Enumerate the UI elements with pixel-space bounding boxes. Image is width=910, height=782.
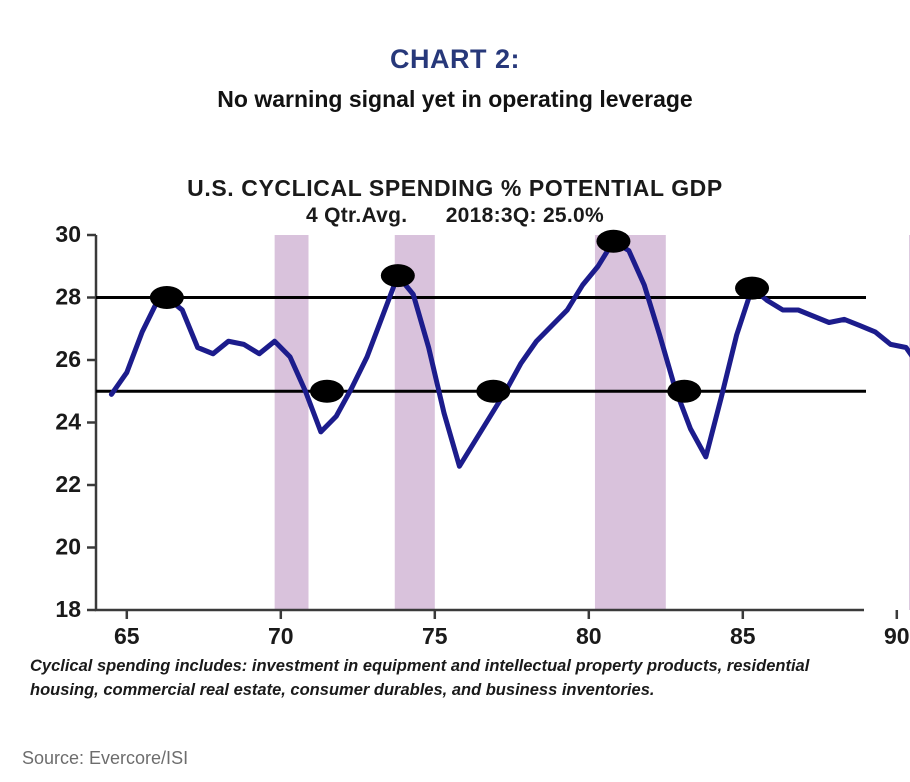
chart-page: CHART 2: No warning signal yet in operat…: [0, 0, 910, 782]
x-axis-tick-label: 85: [730, 623, 756, 649]
chart-number-label: CHART 2:: [0, 44, 910, 75]
y-axis-tick-label: 30: [55, 221, 81, 247]
y-axis-tick-label: 18: [55, 596, 81, 622]
y-axis-tick-label: 22: [55, 471, 81, 497]
x-axis-tick-label: 90: [884, 623, 910, 649]
data-series-line: [111, 241, 910, 575]
cycle-marker-peak: [381, 264, 415, 287]
source-line: Source: Evercore/ISI: [22, 748, 188, 769]
footnote: Cyclical spending includes: investment i…: [30, 655, 880, 703]
cycle-marker-peak: [735, 277, 769, 300]
recession-band: [395, 235, 435, 610]
recession-band: [275, 235, 309, 610]
y-axis-tick-label: 20: [55, 534, 81, 560]
cycle-marker-trough: [310, 380, 344, 403]
x-axis-tick-label: 65: [114, 623, 140, 649]
y-axis-tick-label: 24: [55, 409, 81, 435]
plot-area: 302826242220186570758085909500051015: [0, 150, 910, 650]
cycle-marker-peak: [596, 230, 630, 253]
x-axis-tick-label: 70: [268, 623, 294, 649]
x-axis-tick-label: 75: [422, 623, 448, 649]
cycle-marker-peak: [150, 286, 184, 309]
y-axis-tick-label: 26: [55, 346, 81, 372]
x-axis-tick-label: 80: [576, 623, 602, 649]
cycle-marker-trough: [476, 380, 510, 403]
cycle-marker-trough: [667, 380, 701, 403]
y-axis-tick-label: 28: [55, 284, 81, 310]
chart-headline: No warning signal yet in operating lever…: [0, 86, 910, 113]
figure: U.S. CYCLICAL SPENDING % POTENTIAL GDP 4…: [0, 150, 910, 650]
recession-band: [595, 235, 666, 610]
